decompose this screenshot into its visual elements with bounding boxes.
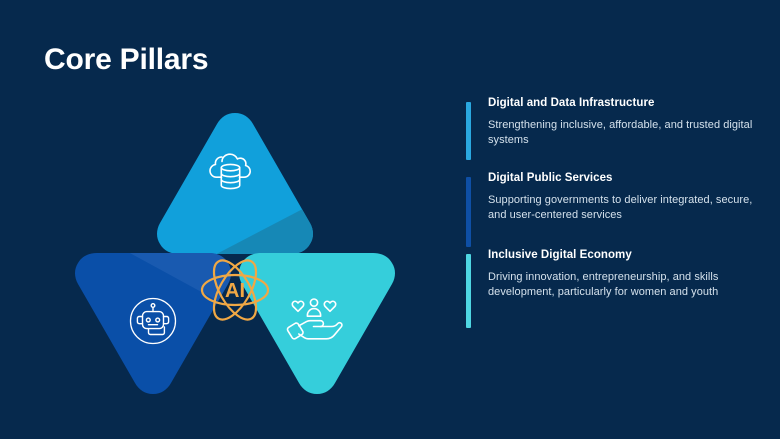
pillar-accent-bar xyxy=(466,177,471,247)
pillar-item-digital-and-data-infrastructure[interactable]: Digital and Data Infrastructure Strength… xyxy=(466,96,756,147)
pillar-description: Supporting governments to deliver integr… xyxy=(488,193,756,222)
ai-atom-label: AI xyxy=(225,280,245,302)
core-pillars-diagram: AI xyxy=(60,100,410,410)
diagram-node-digital-public-services xyxy=(68,252,238,402)
pillar-accent-bar xyxy=(466,254,471,328)
pillar-description: Strengthening inclusive, affordable, and… xyxy=(488,118,756,147)
page-title: Core Pillars xyxy=(44,42,208,78)
pillar-title: Inclusive Digital Economy xyxy=(488,248,756,263)
pillar-item-digital-public-services[interactable]: Digital Public Services Supporting gover… xyxy=(466,171,756,222)
diagram-node-inclusive-digital-economy xyxy=(232,252,402,402)
pillar-title: Digital and Data Infrastructure xyxy=(488,96,756,111)
pillar-description: Driving innovation, entrepreneurship, an… xyxy=(488,270,756,299)
slide-canvas: Core Pillars xyxy=(0,0,780,439)
diagram-node-digital-and-data-infrastructure xyxy=(150,105,320,260)
pillar-list: Digital and Data Infrastructure Strength… xyxy=(466,96,756,299)
pillar-item-inclusive-digital-economy[interactable]: Inclusive Digital Economy Driving innova… xyxy=(466,248,756,299)
pillar-title: Digital Public Services xyxy=(488,171,756,186)
pillar-accent-bar xyxy=(466,102,471,160)
